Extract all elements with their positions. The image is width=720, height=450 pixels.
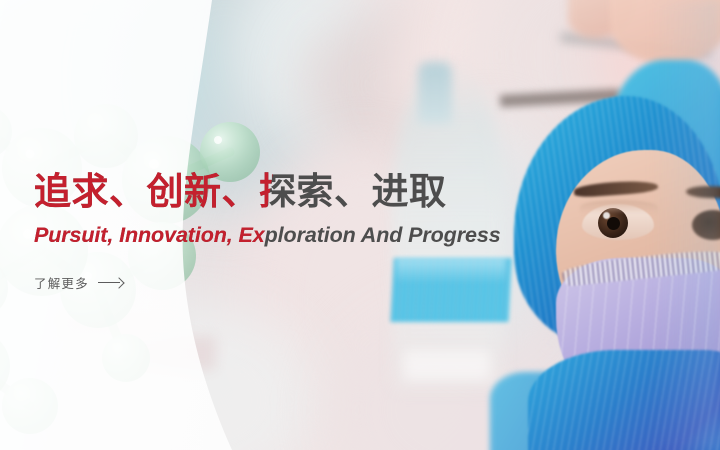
hero-banner: 追求、创新、探索、进取 追求、创新、探索、进取 Pursuit, Innovat…: [0, 0, 720, 450]
page-title-text: 追求、创新、探索、进取: [34, 171, 447, 212]
reagent-bottle-cap: [418, 62, 452, 124]
page-subtitle-text: Pursuit, Innovation, Exploration And Pro…: [34, 223, 501, 247]
learn-more-link[interactable]: 了解更多: [34, 273, 124, 292]
page-subtitle: Pursuit, Innovation, Exploration And Pro…: [34, 223, 694, 248]
page-title: 追求、创新、探索、进取 追求、创新、探索、进取: [34, 170, 694, 214]
lab-paper-sheet: [404, 350, 490, 380]
hero-content: 追求、创新、探索、进取 追求、创新、探索、进取 Pursuit, Innovat…: [34, 170, 694, 293]
arrow-right-icon: [98, 277, 124, 287]
learn-more-label: 了解更多: [34, 273, 89, 292]
